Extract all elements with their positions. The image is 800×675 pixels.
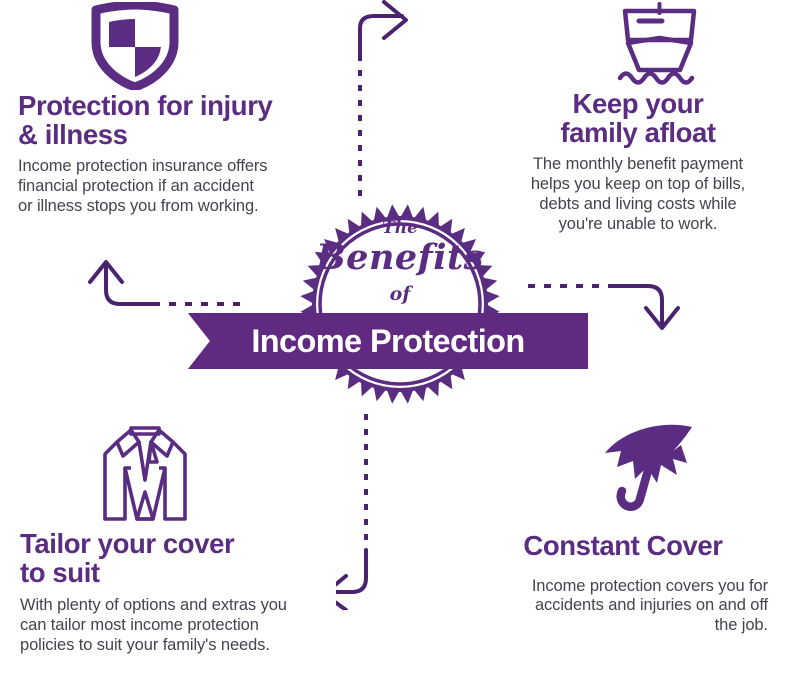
section-keep-your-family-afloat: Keep your family afloat The monthly bene… xyxy=(512,90,764,234)
body-line-1: Income protection covers you for xyxy=(532,577,768,595)
body-line-1: Income protection insurance offers xyxy=(18,157,267,175)
body-line-3: policies to suit your family's needs. xyxy=(20,636,270,654)
section-body: The monthly benefit payment helps you ke… xyxy=(512,155,764,234)
heading-line-1: Protection for injury xyxy=(18,90,272,121)
shield-icon xyxy=(85,2,185,95)
body-line-3: the job. xyxy=(715,616,768,634)
connector-top xyxy=(330,0,450,205)
body-line-1: With plenty of options and extras you xyxy=(20,596,287,614)
body-line-3: debts and living costs while xyxy=(539,195,736,213)
body-line-2: helps you keep on top of bills, xyxy=(531,175,745,193)
heading-line-2: & illness xyxy=(18,119,128,150)
ribbon-banner: Income Protection xyxy=(188,313,588,369)
body-line-1: The monthly benefit payment xyxy=(533,155,743,173)
heading-line-1: Keep your xyxy=(573,88,704,119)
section-protection-for-injury: Protection for injury & illness Income p… xyxy=(18,92,318,217)
badge-line-the: The xyxy=(300,218,500,238)
badge-line-benefits: Benefits xyxy=(300,237,500,278)
section-heading: Protection for injury & illness xyxy=(18,92,318,149)
infographic-canvas: The Benefits of Income Protection Protec… xyxy=(0,0,800,675)
badge-line-of: of xyxy=(300,283,500,305)
heading-line-1: Tailor your cover xyxy=(20,528,234,559)
ribbon-label: Income Protection xyxy=(188,313,588,369)
section-heading: Keep your family afloat xyxy=(512,90,764,147)
heading-line-2: to suit xyxy=(20,557,100,588)
heading-line-1: Constant Cover xyxy=(523,530,722,561)
center-badge: The Benefits of xyxy=(300,196,500,412)
heading-line-2: family afloat xyxy=(560,117,715,148)
section-body: With plenty of options and extras you ca… xyxy=(20,596,320,655)
connector-bottom xyxy=(336,410,456,615)
body-line-2: can tailor most income protection xyxy=(20,616,259,634)
section-constant-cover: Constant Cover Income protection covers … xyxy=(478,532,768,636)
body-line-3: or illness stops you from working. xyxy=(18,197,259,215)
section-body: Income protection covers you for acciden… xyxy=(478,577,768,636)
section-heading: Tailor your cover to suit xyxy=(20,530,320,587)
umbrella-icon xyxy=(595,423,700,523)
section-tailor-your-cover: Tailor your cover to suit With plenty of… xyxy=(20,530,320,656)
body-line-2: accidents and injuries on and off xyxy=(535,596,768,614)
section-heading: Constant Cover xyxy=(478,532,768,561)
body-line-2: financial protection if an accident xyxy=(18,177,254,195)
body-line-4: you're unable to work. xyxy=(559,215,718,233)
section-body: Income protection insurance offers finan… xyxy=(18,157,318,216)
boat-icon xyxy=(612,2,707,97)
connector-left xyxy=(80,256,240,321)
suit-jacket-icon xyxy=(95,420,195,530)
